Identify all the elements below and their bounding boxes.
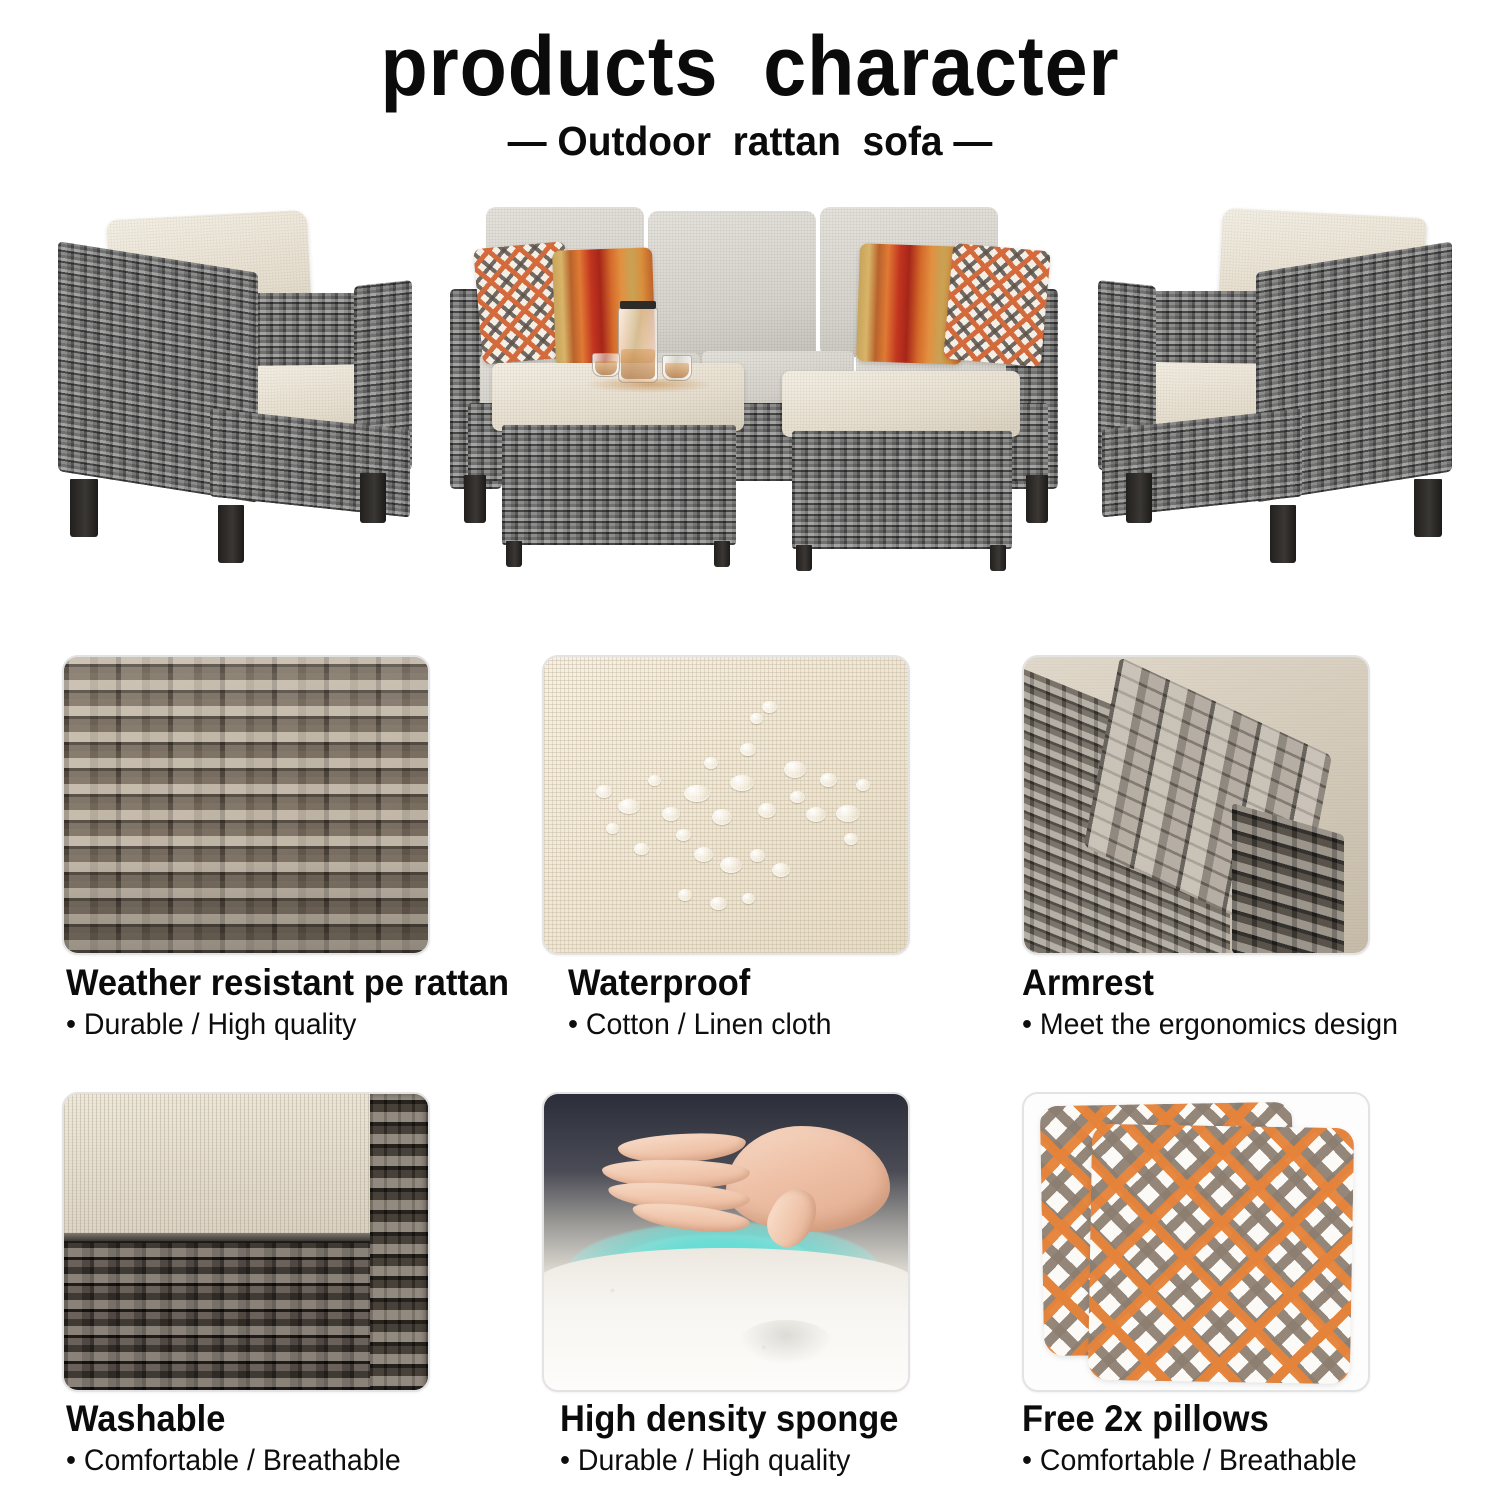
rattan-shading-overlay	[64, 657, 428, 953]
ottoman-right-foot-1	[796, 545, 812, 571]
water-drop	[634, 843, 649, 855]
water-drop	[750, 849, 765, 862]
ottoman-left-frame	[502, 425, 736, 545]
pillow-front	[1088, 1124, 1354, 1385]
water-beads-on-linen-image	[544, 657, 908, 953]
ottoman-left-foot-2	[714, 541, 730, 567]
ottoman-right	[782, 371, 1020, 577]
teapot-tea	[621, 349, 655, 379]
washable-rattan-post	[370, 1094, 428, 1390]
feature-tile-weather-resistant-pe-rattan	[62, 655, 430, 955]
water-drop	[678, 889, 692, 901]
water-drop	[844, 833, 858, 845]
water-drop	[676, 829, 691, 841]
hero-product-photo	[0, 185, 1500, 605]
teacup-left-tea	[595, 361, 617, 375]
memory-foam-block	[542, 1248, 910, 1390]
water-drop	[596, 785, 612, 798]
water-drop	[720, 857, 742, 873]
tea-tray-crumbs	[584, 379, 714, 393]
water-drop	[694, 847, 713, 862]
right-chair-foot-2	[1270, 505, 1296, 563]
page-subtitle: — Outdoor rattan sofa —	[38, 118, 1463, 165]
right-armchair	[1092, 205, 1452, 585]
water-drop	[750, 713, 763, 724]
feature-heading-free-2x-pillows: Free 2x pillows	[1022, 1398, 1269, 1440]
water-drop	[772, 863, 790, 877]
water-drop	[806, 807, 826, 822]
left-chair-foot-3	[360, 473, 386, 523]
water-drop	[758, 803, 776, 818]
page-title: products character	[60, 18, 1440, 115]
sofa-foot-left	[464, 475, 486, 523]
woven-armrest-corner-image	[1024, 657, 1368, 953]
water-drop	[762, 701, 777, 713]
infographic-page: products character — Outdoor rattan sofa…	[0, 0, 1500, 1500]
water-drop	[704, 757, 718, 769]
left-chair-foot-2	[218, 505, 244, 563]
two-orange-diamond-pillows-image	[1024, 1094, 1368, 1390]
feature-heading-weather-resistant-pe-rattan: Weather resistant pe rattan	[66, 962, 509, 1004]
water-drop	[710, 897, 727, 910]
left-armchair	[58, 205, 413, 585]
feature-sub-washable: • Comfortable / Breathable	[66, 1444, 401, 1478]
feature-sub-armrest: • Meet the ergonomics design	[1022, 1008, 1398, 1042]
glass-teapot-and-cups	[590, 303, 710, 399]
ottoman-right-cushion	[782, 371, 1020, 437]
feature-tile-high-density-sponge	[542, 1092, 910, 1392]
water-drop	[784, 761, 806, 778]
teapot-lid	[620, 301, 656, 309]
water-drop	[712, 809, 732, 825]
feature-tile-free-2x-pillows	[1022, 1092, 1370, 1392]
water-drop	[648, 775, 661, 786]
left-chair-foot-1	[70, 479, 98, 537]
water-drop	[820, 773, 837, 787]
foam-dimple	[740, 1320, 832, 1364]
feature-tile-armrest	[1022, 655, 1370, 955]
feature-sub-free-2x-pillows: • Comfortable / Breathable	[1022, 1444, 1357, 1478]
water-drop	[856, 779, 870, 791]
water-drop	[836, 805, 860, 822]
hand	[574, 1126, 890, 1250]
ottoman-left-foot-1	[506, 541, 522, 567]
water-drop	[606, 823, 619, 834]
water-drop	[740, 743, 756, 756]
cushion-edge-on-rattan-frame-image	[64, 1094, 428, 1390]
water-drop	[730, 775, 754, 791]
feature-heading-washable: Washable	[66, 1398, 225, 1440]
feature-tile-waterproof	[542, 655, 910, 955]
feature-tile-washable	[62, 1092, 430, 1392]
water-drop	[742, 893, 755, 904]
feature-heading-armrest: Armrest	[1022, 962, 1154, 1004]
water-drop	[790, 791, 805, 803]
water-drop	[662, 807, 680, 821]
feature-heading-high-density-sponge: High density sponge	[560, 1398, 898, 1440]
sofa-foot-right	[1026, 475, 1048, 523]
right-chair-foot-1	[1126, 473, 1152, 523]
water-drop	[618, 799, 640, 814]
water-drop	[684, 785, 710, 802]
rattan-weave-closeup-image	[64, 657, 428, 953]
ottoman-right-foot-2	[990, 545, 1006, 571]
feature-sub-waterproof: • Cotton / Linen cloth	[568, 1008, 831, 1042]
ottoman-right-frame	[792, 431, 1012, 549]
feature-sub-weather-resistant-pe-rattan: • Durable / High quality	[66, 1008, 356, 1042]
feature-heading-waterproof: Waterproof	[568, 962, 750, 1004]
feature-sub-high-density-sponge: • Durable / High quality	[560, 1444, 850, 1478]
sofa-pillow-diamond-right	[943, 243, 1051, 367]
hand-pressing-memory-foam-image	[544, 1094, 908, 1390]
right-chair-foot-3	[1414, 479, 1442, 537]
teacup-right-tea	[665, 363, 689, 378]
